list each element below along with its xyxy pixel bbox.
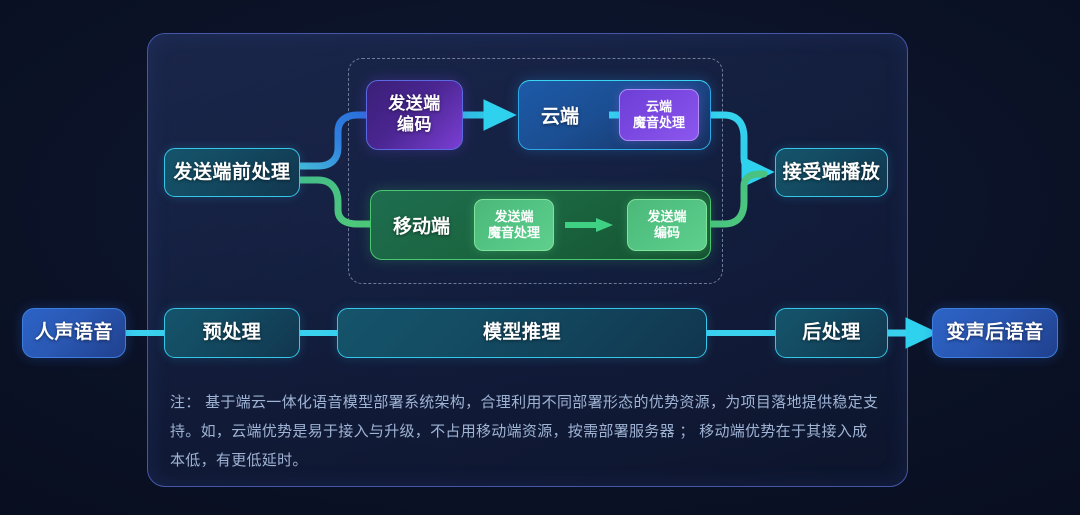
- group-mobile-label: 移动端: [393, 212, 450, 239]
- pipeline-node-postprocess[interactable]: 后处理: [775, 308, 888, 358]
- group-mobile[interactable]: 移动端 发送端 魔音处理 发送端 编码: [370, 190, 711, 260]
- node-sender-preprocess[interactable]: 发送端前处理: [164, 148, 300, 197]
- right-arrow-icon: [563, 215, 615, 235]
- diagram-canvas: 发送端前处理 发送端 编码 云端 云端 魔音处理 移动端 发送端 魔音处理 发送…: [0, 0, 1080, 515]
- node-sender-encode-mobile[interactable]: 发送端 编码: [627, 199, 707, 251]
- pipeline-node-output-voice[interactable]: 变声后语音: [932, 308, 1058, 358]
- pipeline-node-preprocess[interactable]: 预处理: [164, 308, 300, 358]
- footnote-text: 注： 基于端云一体化语音模型部署系统架构，合理利用不同部署形态的优势资源，为项目…: [170, 388, 882, 475]
- pipeline-node-input-voice[interactable]: 人声语音: [22, 308, 126, 358]
- group-cloud[interactable]: 云端 云端 魔音处理: [518, 80, 711, 150]
- node-sender-encode-cloud[interactable]: 发送端 编码: [366, 80, 463, 150]
- node-cloud-voice-effect[interactable]: 云端 魔音处理: [619, 89, 699, 141]
- pipeline-node-model-inference[interactable]: 模型推理: [337, 308, 707, 358]
- node-receiver-playback[interactable]: 接受端播放: [775, 148, 888, 197]
- group-cloud-label: 云端: [541, 102, 579, 129]
- node-sender-voice-effect[interactable]: 发送端 魔音处理: [474, 199, 554, 251]
